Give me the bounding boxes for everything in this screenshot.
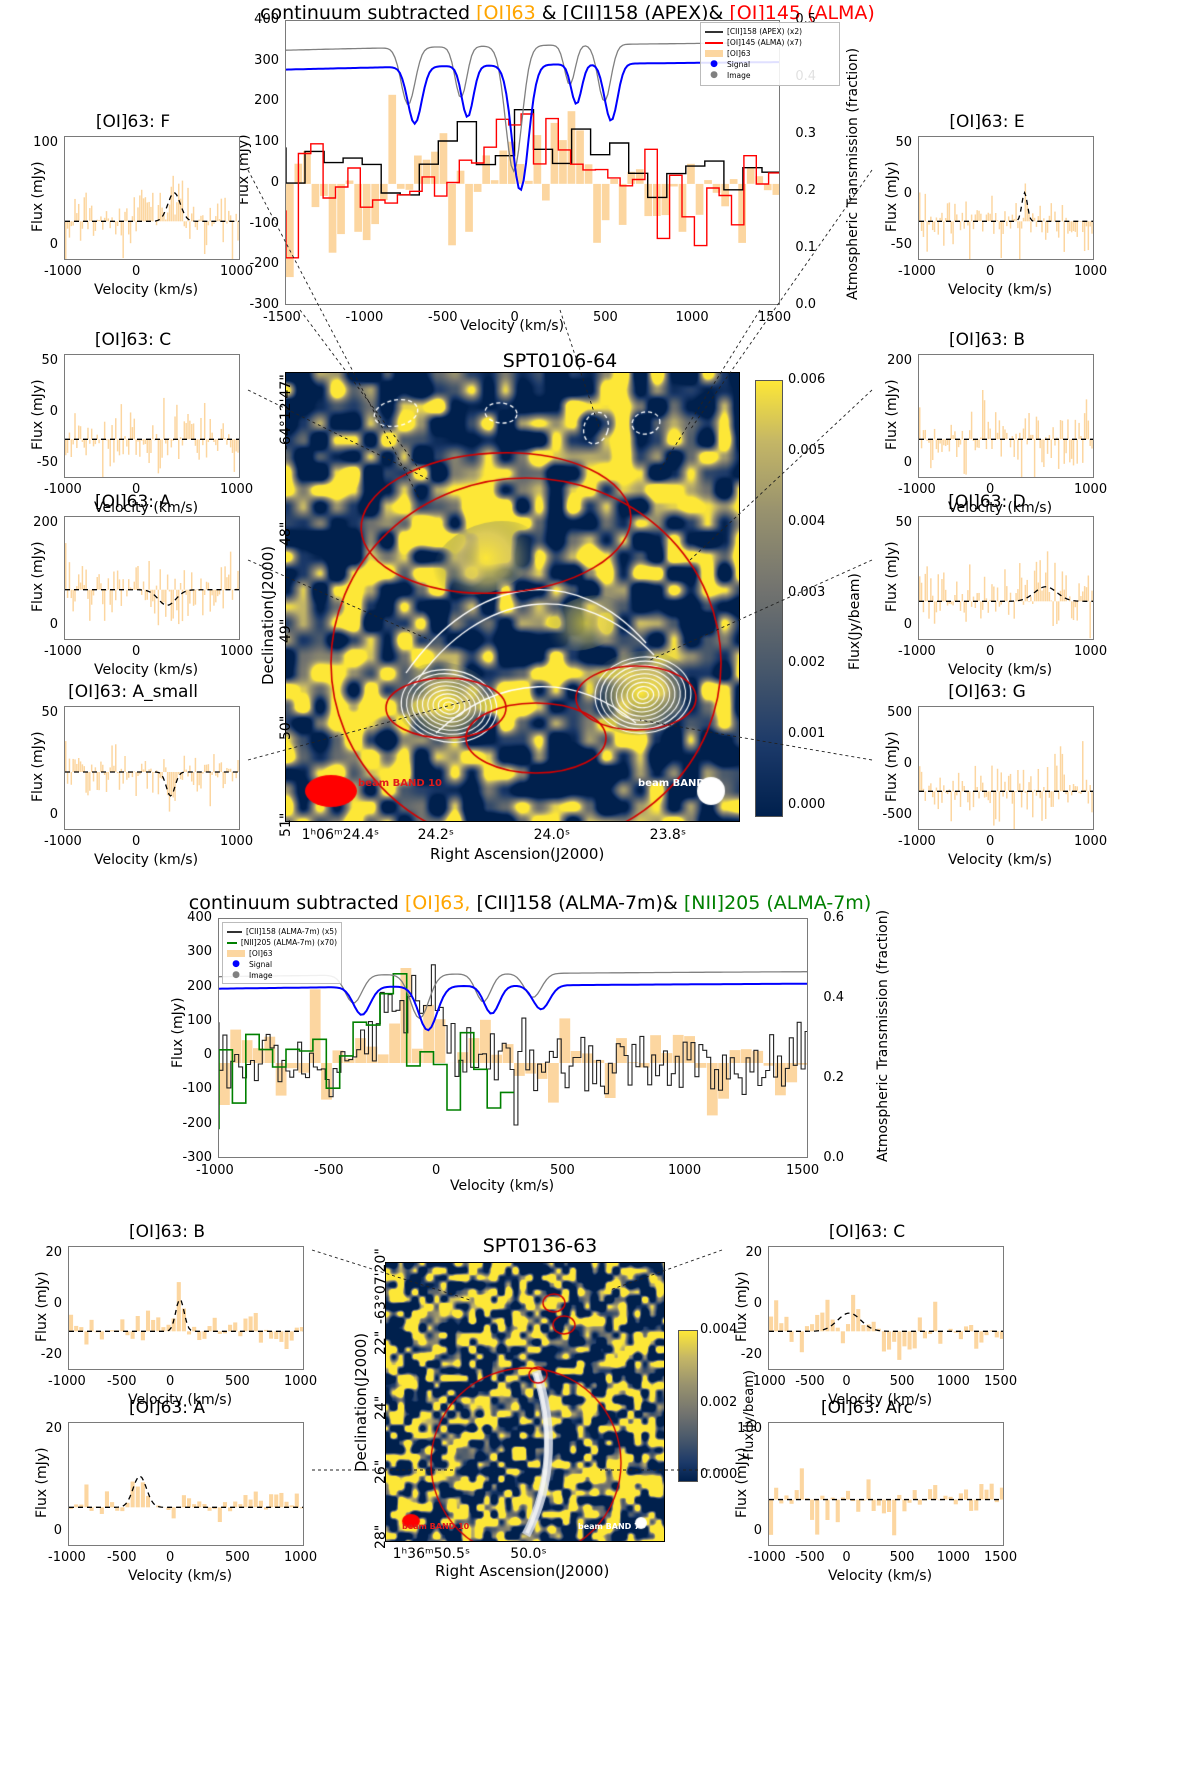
bottom-inset-axes-B[interactable] xyxy=(68,1246,304,1370)
bottom-inset-plot-C xyxy=(769,1247,1004,1370)
bottom-spectrum-title: continuum subtracted [OI]63, [CII]158 (A… xyxy=(180,892,880,914)
btitle-part-continuum: continuum subtracted xyxy=(189,892,399,914)
top-inset-plot-B xyxy=(919,355,1094,478)
bottom-inset-plot-B xyxy=(69,1247,304,1370)
map-top-colorbar-tick-1: 0.005 xyxy=(788,443,825,458)
bottom-inset-Arc-xtick-4: 1000 xyxy=(937,1550,970,1565)
top-ytick-right-4: 0.1 xyxy=(786,240,816,255)
top-inset-F-ytick-0: 100 xyxy=(18,135,58,150)
top-inset-A-xtick-0: -1000 xyxy=(44,644,82,659)
bottom-legend-marker-1 xyxy=(227,942,237,944)
bottom-inset-B-ylabel: Flux (mJy) xyxy=(34,1271,50,1342)
top-inset-F-ylabel: Flux (mJy) xyxy=(30,161,46,232)
map-bottom-ytick-4: 28" xyxy=(373,1525,389,1549)
top-ytick-1: 300 xyxy=(237,53,279,68)
map-top-beam-right-label: beam BAND 7 xyxy=(638,778,715,789)
top-inset-A_small-xtick-1: 0 xyxy=(132,834,140,849)
bottom-inset-A-ytick-0: 20 xyxy=(22,1421,62,1436)
map-bottom-ytick-3: 26" xyxy=(373,1460,389,1484)
top-inset-G-xlabel: Velocity (km/s) xyxy=(948,852,1052,868)
bottom-spectrum-ylabel: Flux (mJy) xyxy=(170,997,186,1068)
bottom-inset-B-xtick-1: -500 xyxy=(107,1374,137,1389)
bottom-inset-C-xtick-5: 1500 xyxy=(984,1374,1017,1389)
map-top-beam-left-label: beam BAND 10 xyxy=(358,778,442,789)
bottom-inset-B-ytick-0: 20 xyxy=(22,1245,62,1260)
top-inset-D-ylabel: Flux (mJy) xyxy=(884,541,900,612)
bottom-inset-A-xtick-4: 1000 xyxy=(284,1550,317,1565)
top-legend-label-3: Signal xyxy=(727,60,750,69)
top-legend-item-2: [OI]63 xyxy=(705,48,835,59)
top-legend-marker-0 xyxy=(705,31,723,33)
bot-ytick-5: -100 xyxy=(170,1081,212,1096)
top-inset-title-C: [OI]63: C xyxy=(18,330,248,350)
top-inset-F: [OI]63: F1000-100001000Velocity (km/s)Fl… xyxy=(18,112,248,304)
bottom-inset-A-xtick-3: 500 xyxy=(225,1550,250,1565)
bottom-inset-A-xtick-2: 0 xyxy=(166,1550,174,1565)
top-inset-D-xtick-2: 1000 xyxy=(1074,644,1107,659)
bot-ytick-1: 300 xyxy=(170,944,212,959)
map-bottom-image[interactable] xyxy=(385,1262,665,1542)
map-top-xtick-2: 24.0ˢ xyxy=(534,827,570,843)
bottom-inset-title-B: [OI]63: B xyxy=(22,1222,312,1242)
top-inset-G-xtick-0: -1000 xyxy=(898,834,936,849)
bottom-legend-marker-0 xyxy=(227,931,242,933)
map-top-colorbar-tick-3: 0.003 xyxy=(788,585,825,600)
bottom-legend-marker-4: ● xyxy=(227,971,245,980)
bottom-inset-B-xtick-3: 500 xyxy=(225,1374,250,1389)
top-inset-A-xtick-2: 1000 xyxy=(220,644,253,659)
map-bottom-xtick-0: 1ʰ36ᵐ50.5ˢ xyxy=(393,1546,471,1562)
top-inset-axes-A_small[interactable] xyxy=(64,706,240,830)
top-inset-plot-E xyxy=(919,137,1094,260)
top-inset-title-G: [OI]63: G xyxy=(872,682,1102,702)
bottom-inset-B: [OI]63: B200-20-1000-50005001000Velocity… xyxy=(22,1222,312,1414)
bottom-inset-A: [OI]63: A200-1000-50005001000Velocity (k… xyxy=(22,1398,312,1590)
top-inset-title-E: [OI]63: E xyxy=(872,112,1102,132)
bot-ytick-6: -200 xyxy=(170,1116,212,1131)
top-inset-D-xtick-0: -1000 xyxy=(898,644,936,659)
bottom-inset-C: [OI]63: C200-20-1000-500050010001500Velo… xyxy=(722,1222,1012,1414)
map-bottom-xlabel: Right Ascension(J2000) xyxy=(435,1562,609,1580)
top-ytick-right-2: 0.3 xyxy=(786,126,816,141)
map-bottom-title: SPT0136-63 xyxy=(400,1235,680,1257)
map-top-colorbar-tick-0: 0.006 xyxy=(788,372,825,387)
top-inset-E-ytick-0: 50 xyxy=(872,135,912,150)
top-inset-title-D: [OI]63: D xyxy=(872,492,1102,512)
map-top-image[interactable] xyxy=(285,372,740,822)
top-inset-B-ytick-1: 0 xyxy=(872,455,912,470)
top-inset-E-ylabel: Flux (mJy) xyxy=(884,161,900,232)
top-inset-E-xtick-2: 1000 xyxy=(1074,264,1107,279)
top-inset-G-ytick-0: 500 xyxy=(872,705,912,720)
bottom-inset-B-ytick-2: -20 xyxy=(22,1347,62,1362)
top-legend-marker-1 xyxy=(705,42,723,44)
top-inset-E-ytick-2: -50 xyxy=(872,237,912,252)
bottom-spectrum-legend: [CII]158 (ALMA-7m) (x5)[NII]205 (ALMA-7m… xyxy=(222,922,342,984)
top-inset-C-ylabel: Flux (mJy) xyxy=(30,379,46,450)
top-inset-title-A: [OI]63: A xyxy=(18,492,248,512)
map-top-canvas xyxy=(286,373,740,822)
map-top-colorbar-tick-6: 0.000 xyxy=(788,797,825,812)
bottom-inset-C-xtick-4: 1000 xyxy=(937,1374,970,1389)
top-inset-A_small-xtick-2: 1000 xyxy=(220,834,253,849)
map-bottom-ytick-1: 22" xyxy=(373,1330,389,1354)
top-xtick-6: 1500 xyxy=(758,310,791,325)
top-legend-marker-2 xyxy=(705,50,723,57)
top-inset-G-ytick-2: -500 xyxy=(872,807,912,822)
top-spectrum-legend: [CII]158 (APEX) (x2)[OI]145 (ALMA) (x7)[… xyxy=(700,22,840,86)
bottom-legend-label-1: [NII]205 (ALMA-7m) (x70) xyxy=(241,938,337,947)
bottom-inset-plot-Arc xyxy=(769,1423,1004,1546)
top-legend-item-0: [CII]158 (APEX) (x2) xyxy=(705,26,835,37)
top-inset-A-ytick-1: 0 xyxy=(18,617,58,632)
top-inset-A_small: [OI]63: A_small500-100001000Velocity (km… xyxy=(18,682,248,874)
bottom-inset-B-xtick-0: -1000 xyxy=(48,1374,86,1389)
top-legend-label-0: [CII]158 (APEX) (x2) xyxy=(727,27,802,36)
bottom-inset-Arc-xtick-3: 500 xyxy=(890,1550,915,1565)
bottom-inset-axes-C[interactable] xyxy=(768,1246,1004,1370)
top-inset-axes-C[interactable] xyxy=(64,354,240,478)
top-inset-axes-D[interactable] xyxy=(918,516,1094,640)
top-xtick-0: -1500 xyxy=(263,310,301,325)
bot-xtick-0: -1000 xyxy=(196,1163,234,1178)
map-top-colorbar-label: Flux(Jy/beam) xyxy=(847,573,863,670)
map-bottom-ytick-2: 24" xyxy=(373,1395,389,1419)
map-bottom-canvas xyxy=(386,1263,665,1542)
top-inset-A-xtick-1: 0 xyxy=(132,644,140,659)
top-inset-A_small-ytick-0: 50 xyxy=(18,705,58,720)
bottom-spectrum-xlabel: Velocity (km/s) xyxy=(450,1178,554,1194)
bot-ytick-0: 400 xyxy=(170,910,212,925)
top-legend-label-2: [OI]63 xyxy=(727,49,751,58)
bot-xtick-4: 1000 xyxy=(668,1163,701,1178)
bot-ytick-right-2: 0.2 xyxy=(814,1070,844,1085)
top-inset-title-B: [OI]63: B xyxy=(872,330,1102,350)
map-top-xtick-1: 24.2ˢ xyxy=(418,827,454,843)
top-legend-marker-4: ● xyxy=(705,71,723,80)
bot-xtick-1: -500 xyxy=(314,1163,344,1178)
top-inset-B-ylabel: Flux (mJy) xyxy=(884,379,900,450)
top-inset-F-xtick-0: -1000 xyxy=(44,264,82,279)
top-inset-G-xtick-1: 0 xyxy=(986,834,994,849)
top-inset-B-ytick-0: 200 xyxy=(872,353,912,368)
map-top-ytick-1: 48" xyxy=(278,522,294,546)
bottom-legend-item-1: [NII]205 (ALMA-7m) (x70) xyxy=(227,937,337,948)
top-legend-marker-3: ● xyxy=(705,60,723,69)
map-top-colorbar[interactable] xyxy=(755,380,783,817)
top-inset-C-ytick-2: -50 xyxy=(18,455,58,470)
bottom-legend-item-2: [OI]63 xyxy=(227,948,337,959)
map-bottom-panel: SPT0136-63 -63°07'20"22"24"26"28" 1ʰ36ᵐ5… xyxy=(330,1210,750,1760)
bottom-inset-Arc-xtick-0: -1000 xyxy=(748,1550,786,1565)
bottom-legend-label-2: [OI]63 xyxy=(249,949,273,958)
top-inset-E-xtick-0: -1000 xyxy=(898,264,936,279)
top-inset-plot-G xyxy=(919,707,1094,830)
top-legend-label-1: [OI]145 (ALMA) (x7) xyxy=(727,38,802,47)
top-inset-G: [OI]63: G5000-500-100001000Velocity (km/… xyxy=(872,682,1102,874)
top-inset-plot-D xyxy=(919,517,1094,640)
map-bottom-colorbar[interactable] xyxy=(678,1330,698,1482)
top-inset-A_small-ytick-1: 0 xyxy=(18,807,58,822)
bottom-inset-A-ytick-1: 0 xyxy=(22,1523,62,1538)
map-bottom-beam-left-label: beam BAND 10 xyxy=(402,1522,469,1531)
top-inset-D-ytick-1: 0 xyxy=(872,617,912,632)
bottom-inset-axes-Arc[interactable] xyxy=(768,1422,1004,1546)
top-spectrum-xlabel: Velocity (km/s) xyxy=(460,318,564,334)
top-xtick-1: -1000 xyxy=(346,310,384,325)
top-inset-E-xtick-1: 0 xyxy=(986,264,994,279)
top-inset-A_small-xlabel: Velocity (km/s) xyxy=(94,852,198,868)
top-inset-axes-G[interactable] xyxy=(918,706,1094,830)
map-bottom-ylabel: Declination(J2000) xyxy=(352,1333,370,1472)
top-inset-title-A_small: [OI]63: A_small xyxy=(18,682,248,702)
top-inset-axes-B[interactable] xyxy=(918,354,1094,478)
top-inset-A_small-ylabel: Flux (mJy) xyxy=(30,731,46,802)
top-inset-axes-A[interactable] xyxy=(64,516,240,640)
bot-ytick-right-1: 0.4 xyxy=(814,990,844,1005)
bottom-inset-Arc-xtick-1: -500 xyxy=(795,1550,825,1565)
map-bottom-colorbar-tick-0: 0.004 xyxy=(700,1322,737,1337)
top-inset-A_small-xtick-0: -1000 xyxy=(44,834,82,849)
map-top-title: SPT0106-64 xyxy=(360,350,760,372)
map-top-ytick-4: 51" xyxy=(278,812,294,836)
bottom-spectrum-ylabel-right: Atmospheric Transmission (fraction) xyxy=(875,910,891,1162)
bot-xtick-2: 0 xyxy=(432,1163,440,1178)
top-spectrum-ylabel-right: Atmospheric Transmission (fraction) xyxy=(845,48,861,300)
bot-ytick-2: 200 xyxy=(170,979,212,994)
top-ytick-right-3: 0.2 xyxy=(786,183,816,198)
bottom-inset-Arc-xtick-5: 1500 xyxy=(984,1550,1017,1565)
map-top-ytick-3: 50" xyxy=(278,715,294,739)
bot-ytick-right-0: 0.6 xyxy=(814,910,844,925)
bottom-legend-label-4: Image xyxy=(249,971,273,980)
bottom-inset-C-xtick-1: -500 xyxy=(795,1374,825,1389)
top-inset-axes-F[interactable] xyxy=(64,136,240,260)
top-inset-plot-A xyxy=(65,517,240,640)
bottom-inset-A-xtick-1: -500 xyxy=(107,1550,137,1565)
top-inset-E-xlabel: Velocity (km/s) xyxy=(948,282,1052,298)
bottom-spectrum-panel: continuum subtracted [OI]63, [CII]158 (A… xyxy=(0,890,900,1190)
top-xtick-2: -500 xyxy=(428,310,458,325)
bottom-inset-title-Arc: [OI]63: Arc xyxy=(722,1398,1012,1418)
top-inset-A: [OI]63: A2000-100001000Velocity (km/s)Fl… xyxy=(18,492,248,684)
bottom-inset-Arc-xlabel: Velocity (km/s) xyxy=(828,1568,932,1584)
top-inset-plot-A_small xyxy=(65,707,240,830)
top-inset-A-ylabel: Flux (mJy) xyxy=(30,541,46,612)
bottom-inset-A-xtick-0: -1000 xyxy=(48,1550,86,1565)
bottom-inset-B-xtick-2: 0 xyxy=(166,1374,174,1389)
top-xtick-5: 1000 xyxy=(676,310,709,325)
bottom-legend-item-4: ●Image xyxy=(227,970,337,981)
map-top-colorbar-tick-2: 0.004 xyxy=(788,514,825,529)
map-bottom-xtick-1: 50.0ˢ xyxy=(510,1546,546,1562)
top-inset-A-xlabel: Velocity (km/s) xyxy=(94,662,198,678)
map-top-ytick-0: -64°12'47" xyxy=(278,374,294,450)
top-inset-D-ytick-0: 50 xyxy=(872,515,912,530)
map-bottom-colorbar-label: Flux(Jy/beam) xyxy=(742,1370,757,1460)
bottom-inset-C-xtick-2: 0 xyxy=(842,1374,850,1389)
bottom-inset-B-xtick-4: 1000 xyxy=(284,1374,317,1389)
top-legend-label-4: Image xyxy=(727,71,751,80)
map-bottom-ytick-0: -63°07'20" xyxy=(373,1248,389,1324)
top-inset-F-ytick-1: 0 xyxy=(18,237,58,252)
top-inset-D: [OI]63: D500-100001000Velocity (km/s)Flu… xyxy=(872,492,1102,684)
bottom-inset-Arc: [OI]63: Arc1000-1000-500050010001500Velo… xyxy=(722,1398,1012,1590)
top-ytick-0: 400 xyxy=(237,12,279,27)
top-inset-plot-C xyxy=(65,355,240,478)
map-bottom-colorbar-tick-2: 0.000 xyxy=(700,1467,737,1482)
top-inset-C-ytick-0: 50 xyxy=(18,353,58,368)
map-top-xlabel: Right Ascension(J2000) xyxy=(430,845,604,863)
bottom-legend-label-0: [CII]158 (ALMA-7m) (x5) xyxy=(246,927,337,936)
map-top-colorbar-tick-5: 0.001 xyxy=(788,726,825,741)
top-inset-axes-E[interactable] xyxy=(918,136,1094,260)
map-bottom-colorbar-tick-1: 0.002 xyxy=(700,1395,737,1410)
top-inset-G-xtick-2: 1000 xyxy=(1074,834,1107,849)
top-inset-A-ytick-0: 200 xyxy=(18,515,58,530)
btitle-part-oi63: [OI]63, xyxy=(405,892,471,914)
map-top-xtick-0: 1ʰ06ᵐ24.4ˢ xyxy=(302,827,380,843)
top-legend-item-3: ●Signal xyxy=(705,59,835,70)
map-top-colorbar-tick-4: 0.002 xyxy=(788,655,825,670)
bottom-inset-C-xtick-3: 500 xyxy=(890,1374,915,1389)
top-inset-title-F: [OI]63: F xyxy=(18,112,248,132)
top-inset-E: [OI]63: E500-50-100001000Velocity (km/s)… xyxy=(872,112,1102,304)
bottom-inset-title-A: [OI]63: A xyxy=(22,1398,312,1418)
bottom-inset-plot-A xyxy=(69,1423,304,1546)
bottom-legend-item-0: [CII]158 (ALMA-7m) (x5) xyxy=(227,926,337,937)
bottom-legend-marker-2 xyxy=(227,950,245,957)
map-top-ylabel: Declination(J2000) xyxy=(259,546,277,685)
top-ytick-2: 200 xyxy=(237,93,279,108)
bottom-legend-item-3: ●Signal xyxy=(227,959,337,970)
bottom-inset-Arc-xtick-2: 0 xyxy=(842,1550,850,1565)
bottom-inset-A-xlabel: Velocity (km/s) xyxy=(128,1568,232,1584)
bottom-inset-A-ylabel: Flux (mJy) xyxy=(34,1447,50,1518)
map-top-xtick-3: 23.8ˢ xyxy=(650,827,686,843)
bottom-legend-marker-3: ● xyxy=(227,960,245,969)
top-legend-item-4: ●Image xyxy=(705,70,835,81)
bot-xtick-3: 500 xyxy=(550,1163,575,1178)
map-bottom-beam-right-label: beam BAND 7 xyxy=(578,1522,640,1531)
bottom-inset-title-C: [OI]63: C xyxy=(722,1222,1012,1242)
bottom-legend-label-3: Signal xyxy=(249,960,272,969)
top-legend-item-1: [OI]145 (ALMA) (x7) xyxy=(705,37,835,48)
map-top-ytick-2: 49" xyxy=(278,619,294,643)
top-inset-F-xtick-2: 1000 xyxy=(220,264,253,279)
top-inset-G-ylabel: Flux (mJy) xyxy=(884,731,900,802)
top-inset-plot-F xyxy=(65,137,240,260)
top-inset-D-xlabel: Velocity (km/s) xyxy=(948,662,1052,678)
map-top-panel: SPT0106-64 -64°12'47"48"49"50"51" 1ʰ06ᵐ2… xyxy=(250,340,870,870)
top-inset-F-xtick-1: 0 xyxy=(132,264,140,279)
bot-xtick-5: 1500 xyxy=(786,1163,819,1178)
btitle-part-cii158: [CII]158 (ALMA-7m)& xyxy=(477,892,678,914)
top-inset-F-xlabel: Velocity (km/s) xyxy=(94,282,198,298)
top-inset-D-xtick-1: 0 xyxy=(986,644,994,659)
bottom-inset-axes-A[interactable] xyxy=(68,1422,304,1546)
top-xtick-4: 500 xyxy=(593,310,618,325)
